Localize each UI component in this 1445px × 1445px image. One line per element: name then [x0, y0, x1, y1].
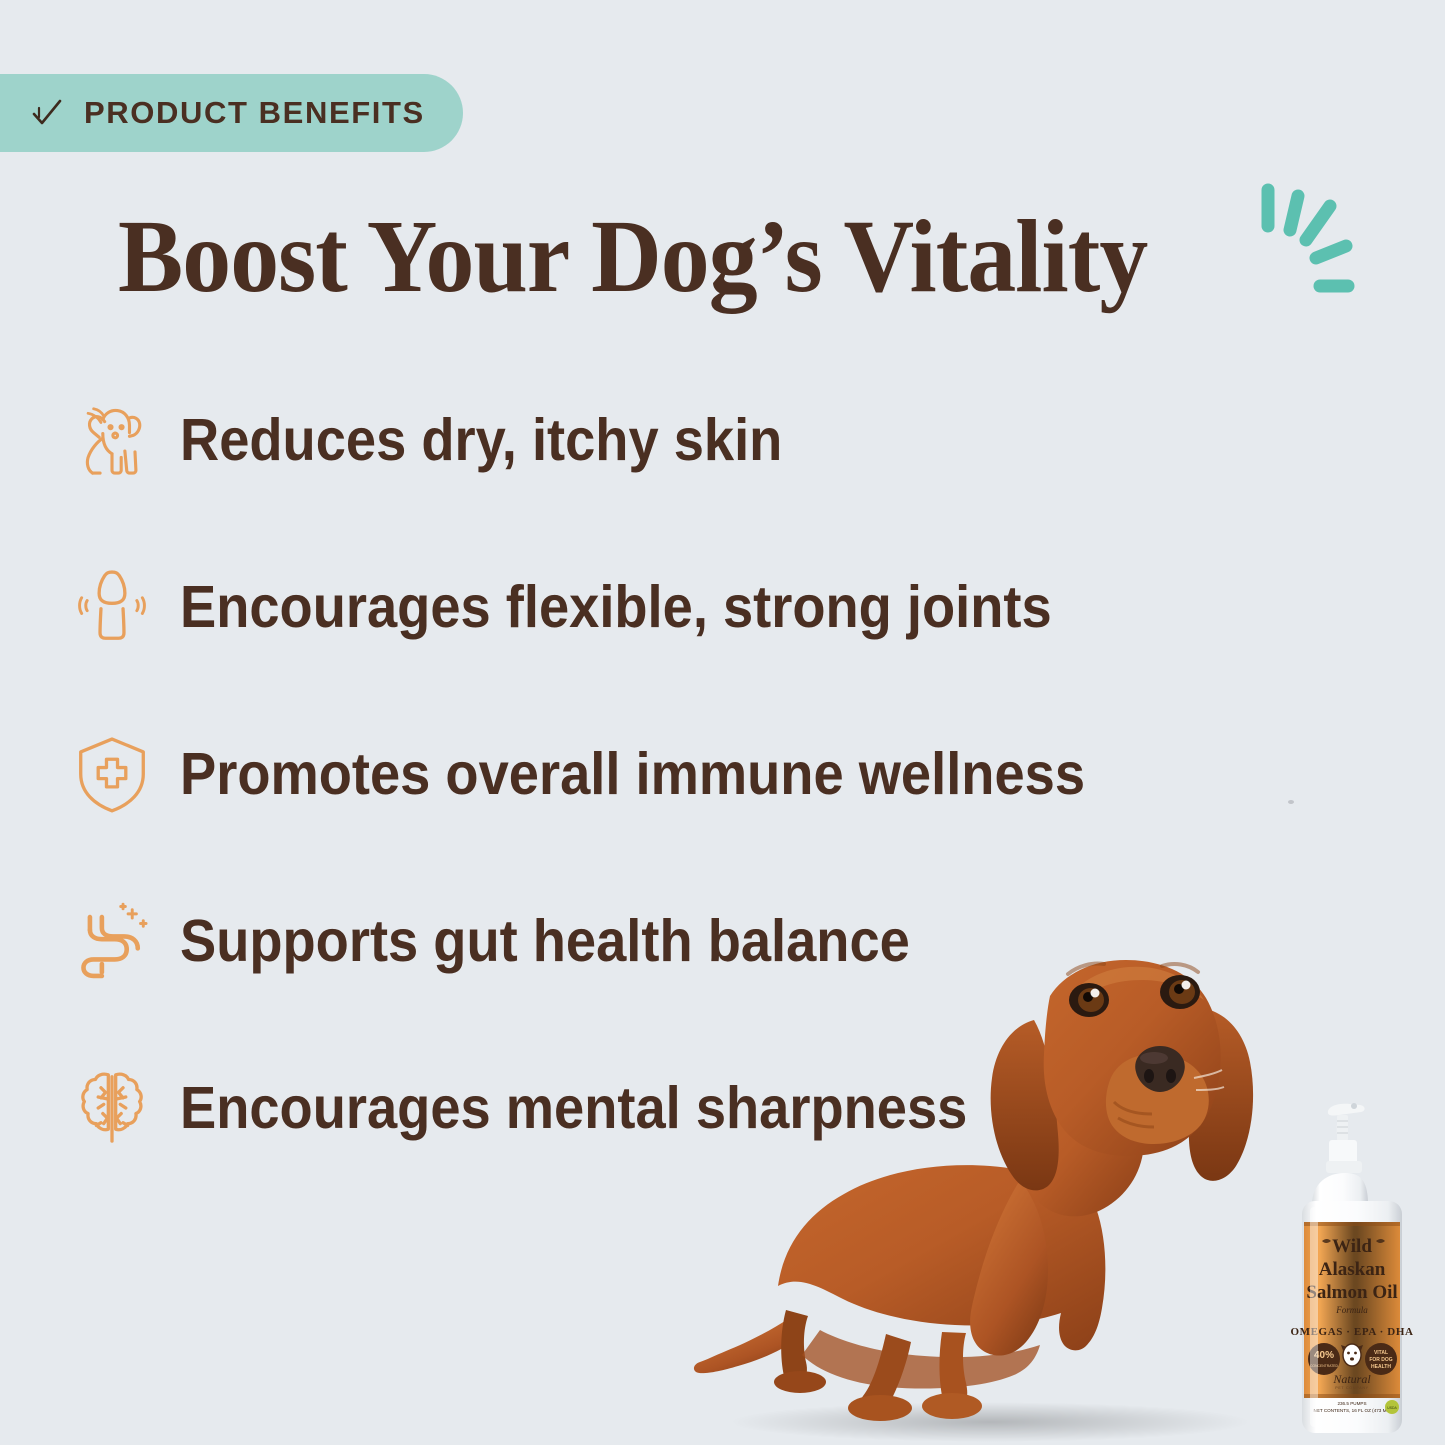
badge-label: PRODUCT BENEFITS	[84, 95, 425, 131]
svg-text:OMEGAS · EPA · DHA: OMEGAS · EPA · DHA	[1290, 1326, 1413, 1338]
dog-scratching-icon	[56, 394, 168, 486]
background-speck	[1288, 800, 1294, 804]
product-benefits-badge: PRODUCT BENEFITS	[0, 74, 463, 152]
headline-row: Boost Your Dog’s Vitality	[118, 205, 1213, 309]
list-item: Reduces dry, itchy skin	[56, 380, 1306, 500]
brain-icon	[56, 1062, 168, 1154]
svg-text:USDA: USDA	[1387, 1406, 1397, 1410]
svg-text:HEALTH: HEALTH	[1371, 1364, 1391, 1370]
salmon-oil-bottle: Wild Alaskan Salmon Oil Formula OMEGAS ·…	[1288, 1095, 1416, 1445]
dachshund-dog-photo	[690, 930, 1310, 1445]
svg-text:VITAL: VITAL	[1374, 1350, 1388, 1356]
list-item: Promotes overall immune wellness	[56, 714, 1306, 834]
sparkle-burst-icon	[1248, 178, 1378, 328]
intestine-sparkle-icon	[56, 895, 168, 987]
svg-text:PET COMPANY: PET COMPANY	[1335, 1386, 1369, 1390]
svg-text:FOR DOG: FOR DOG	[1369, 1357, 1392, 1363]
list-item: Encourages flexible, strong joints	[56, 547, 1306, 667]
svg-text:Wild: Wild	[1332, 1236, 1372, 1257]
svg-text:236.5 PUMPS: 236.5 PUMPS	[1337, 1401, 1366, 1406]
benefit-label: Reduces dry, itchy skin	[180, 406, 782, 474]
svg-text:Alaskan: Alaskan	[1319, 1259, 1386, 1280]
check-icon	[30, 96, 64, 130]
joint-bone-icon	[56, 561, 168, 653]
svg-text:Formula: Formula	[1335, 1305, 1368, 1315]
benefit-label: Encourages flexible, strong joints	[180, 573, 1052, 641]
svg-text:Salmon Oil: Salmon Oil	[1306, 1282, 1397, 1303]
page-title: Boost Your Dog’s Vitality	[118, 205, 1147, 309]
badge-pill: PRODUCT BENEFITS	[0, 74, 463, 152]
benefit-label: Promotes overall immune wellness	[180, 740, 1085, 808]
shield-cross-icon	[56, 728, 168, 820]
svg-text:NET CONTENTS, 16 FL OZ (473 ML: NET CONTENTS, 16 FL OZ (473 ML)	[1313, 1408, 1391, 1413]
svg-text:Natural: Natural	[1332, 1372, 1371, 1386]
